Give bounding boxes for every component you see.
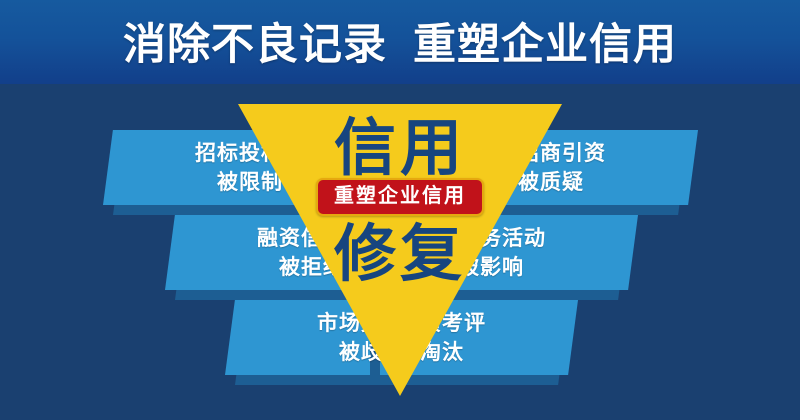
banner-label-line2: 被质疑	[518, 168, 698, 197]
page-title: 消除不良记录 重塑企业信用	[0, 19, 800, 71]
banner-label-line2: 被限制	[103, 168, 283, 197]
banner-label-line2: 被拒绝	[165, 253, 345, 282]
banner-label-line2: 被影响	[458, 253, 638, 282]
poster-canvas: 消除不良记录 重塑企业信用 招标投标 被限制 融资信贷 被拒绝 市场竞争 被歧视…	[0, 0, 800, 420]
